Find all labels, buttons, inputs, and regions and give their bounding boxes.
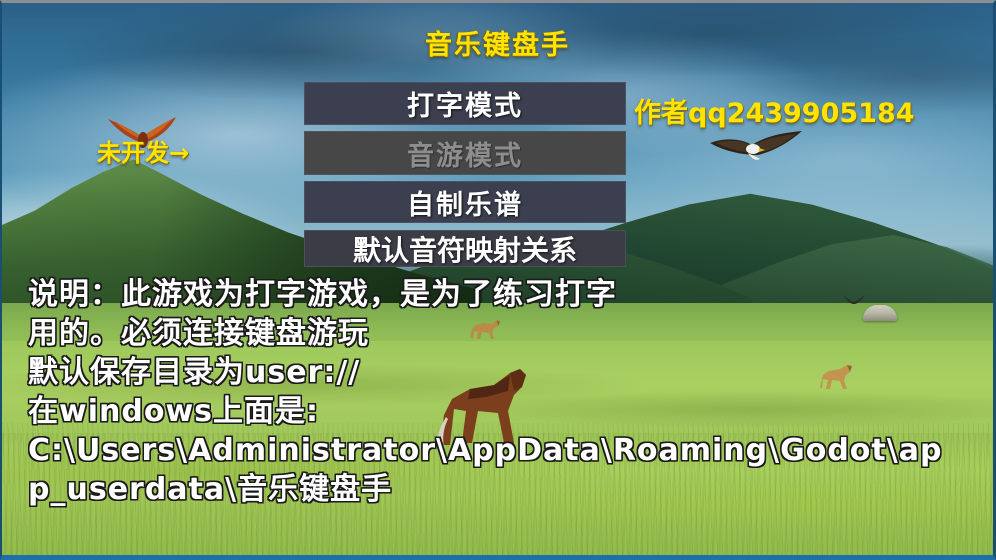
description-block: 说明：此游戏为打字游戏，是为了练习打字 用的。必须连接键盘游玩 默认保存目录为u… xyxy=(28,275,818,509)
undeveloped-annotation: 未开发→ xyxy=(97,133,189,168)
eagle-icon xyxy=(706,129,806,169)
description-line-5: C:\Users\Administrator\AppData\Roaming\G… xyxy=(28,431,818,470)
description-line-6: p_userdata\音乐键盘手 xyxy=(28,470,818,509)
menu-button-default-note-map[interactable]: 默认音符映射关系 xyxy=(304,230,626,267)
author-credit: 作者qq2439905184 xyxy=(634,91,915,130)
description-line-1: 说明：此游戏为打字游戏，是为了练习打字 xyxy=(28,275,818,314)
menu-button-custom-sheet[interactable]: 自制乐谱 xyxy=(304,181,626,223)
game-screen: 音乐键盘手 作者qq2439905184 未开发→ 打字模式 音游模式 自制乐谱… xyxy=(0,0,996,560)
page-title: 音乐键盘手 xyxy=(2,23,993,62)
main-menu: 打字模式 音游模式 自制乐谱 默认音符映射关系 xyxy=(304,82,626,267)
description-line-4: 在windows上面是: xyxy=(28,392,818,431)
menu-button-typing-mode[interactable]: 打字模式 xyxy=(304,82,626,125)
description-line-3: 默认保存目录为user:// xyxy=(28,353,818,392)
description-line-2: 用的。必须连接键盘游玩 xyxy=(28,314,818,353)
horse-icon xyxy=(814,361,858,395)
menu-button-rhythm-mode: 音游模式 xyxy=(304,131,626,175)
